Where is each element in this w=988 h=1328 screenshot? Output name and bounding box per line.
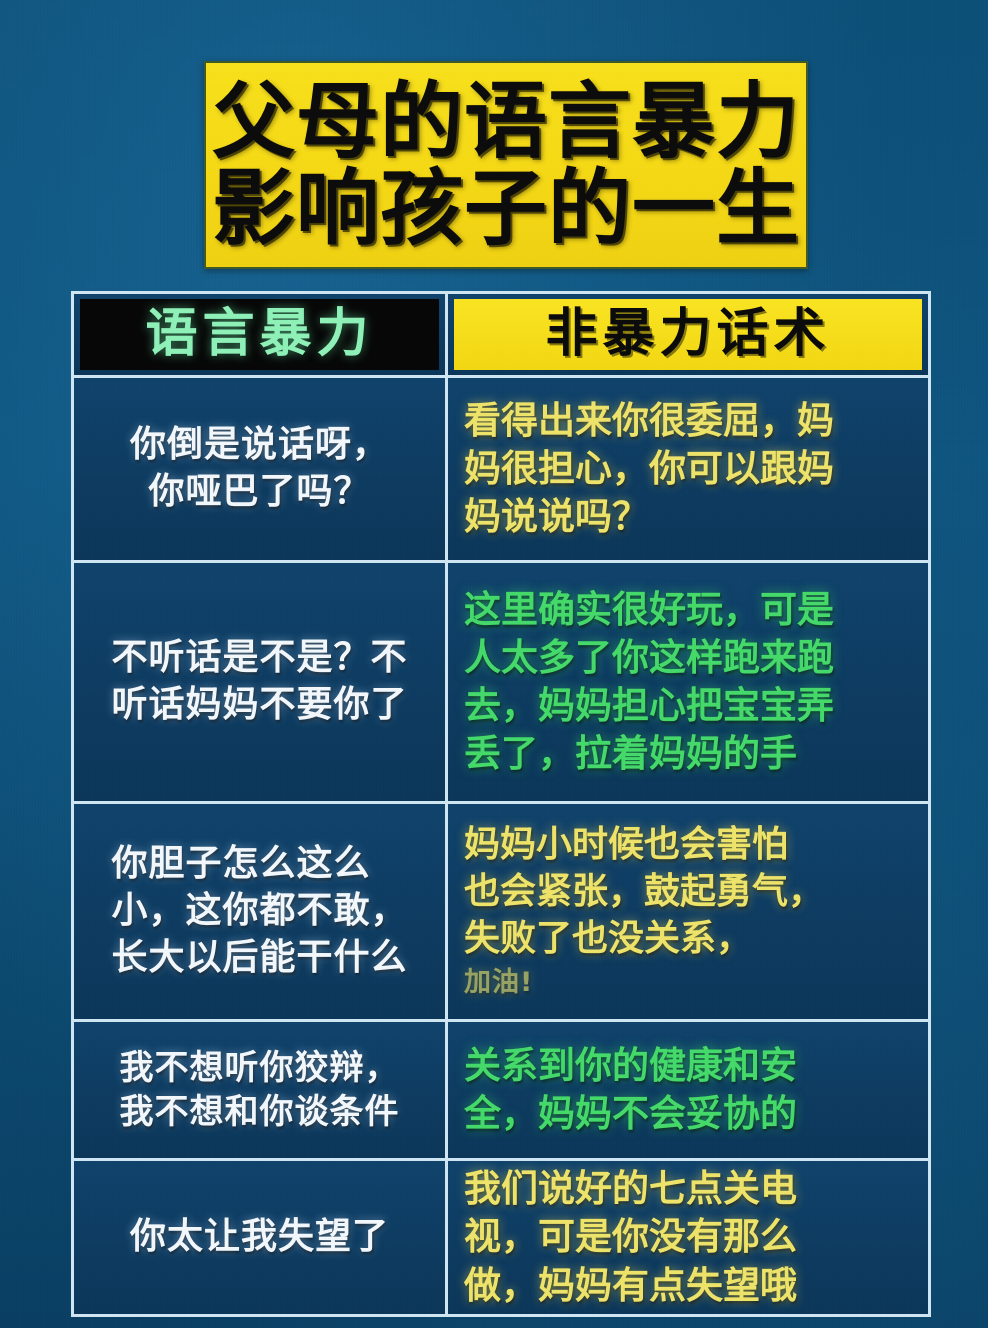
- violent-phrase-text: 你倒是说话呀， 你哑巴了吗？: [130, 422, 389, 516]
- title-line-2: 影响孩子的一生: [212, 168, 800, 249]
- violent-phrase-text: 不听话是不是？不 听话妈妈不要你了: [111, 635, 407, 729]
- table-row: 你太让我失望了 我们说好的七点关电 视，可是你没有那么 做，妈妈有点失望哦: [74, 1161, 928, 1314]
- table-header-row: 语言暴力 非暴力话术: [74, 294, 928, 378]
- comparison-table: 语言暴力 非暴力话术 你倒是说话呀， 你哑巴了吗？ 看得出来你很委屈，妈 妈很担…: [71, 291, 931, 1317]
- nonviolent-phrase-tail: 加油!: [464, 965, 824, 1000]
- title-line-1: 父母的语言暴力: [212, 81, 800, 162]
- header-label-violent: 语言暴力: [145, 308, 373, 360]
- nonviolent-phrase-cell: 妈妈小时候也会害怕 也会紧张，鼓起勇气， 失败了也没关系， 加油!: [448, 804, 928, 1019]
- header-badge-violent: 语言暴力: [80, 299, 439, 370]
- table-row: 我不想听你狡辩， 我不想和你谈条件 关系到你的健康和安 全，妈妈不会妥协的: [74, 1022, 928, 1161]
- nonviolent-phrase-cell: 关系到你的健康和安 全，妈妈不会妥协的: [448, 1022, 928, 1158]
- header-label-nonviolent: 非暴力话术: [545, 308, 830, 360]
- violent-phrase-text: 我不想听你狡辩， 我不想和你谈条件: [120, 1046, 400, 1134]
- table-row: 你倒是说话呀， 你哑巴了吗？ 看得出来你很委屈，妈 妈很担心，你可以跟妈 妈说说…: [74, 378, 928, 563]
- violent-phrase-text: 你太让我失望了: [130, 1214, 389, 1261]
- nonviolent-phrase-text: 看得出来你很委屈，妈 妈很担心，你可以跟妈 妈说说吗？: [464, 397, 834, 541]
- nonviolent-phrase-text: 关系到你的健康和安 全，妈妈不会妥协的: [464, 1042, 797, 1138]
- violent-phrase-cell: 不听话是不是？不 听话妈妈不要你了: [74, 563, 448, 801]
- nonviolent-phrase-cell: 这里确实很好玩，可是 人太多了你这样跑来跑 去，妈妈担心把宝宝弄 丢了，拉着妈妈…: [448, 563, 928, 801]
- violent-phrase-cell: 你倒是说话呀， 你哑巴了吗？: [74, 378, 448, 560]
- table-row: 不听话是不是？不 听话妈妈不要你了 这里确实很好玩，可是 人太多了你这样跑来跑 …: [74, 563, 928, 804]
- nonviolent-phrase-text: 这里确实很好玩，可是 人太多了你这样跑来跑 去，妈妈担心把宝宝弄 丢了，拉着妈妈…: [464, 586, 834, 778]
- header-cell-violent: 语言暴力: [74, 294, 448, 375]
- table-row: 你胆子怎么这么 小，这你都不敢， 长大以后能干什么 妈妈小时候也会害怕 也会紧张…: [74, 804, 928, 1022]
- violent-phrase-cell: 你胆子怎么这么 小，这你都不敢， 长大以后能干什么: [74, 804, 448, 1019]
- nonviolent-phrase-text: 我们说好的七点关电 视，可是你没有那么 做，妈妈有点失望哦: [464, 1165, 797, 1309]
- violent-phrase-text: 你胆子怎么这么 小，这你都不敢， 长大以后能干什么: [111, 841, 407, 981]
- violent-phrase-cell: 我不想听你狡辩， 我不想和你谈条件: [74, 1022, 448, 1158]
- nonviolent-phrase-text: 妈妈小时候也会害怕 也会紧张，鼓起勇气， 失败了也没关系，: [464, 824, 824, 959]
- nonviolent-phrase-cell: 看得出来你很委屈，妈 妈很担心，你可以跟妈 妈说说吗？: [448, 378, 928, 560]
- nonviolent-phrase-cell: 我们说好的七点关电 视，可是你没有那么 做，妈妈有点失望哦: [448, 1161, 928, 1314]
- poster-canvas: 父母的语言暴力 影响孩子的一生 语言暴力 非暴力话术 你倒是说话呀， 你哑巴了吗…: [0, 0, 988, 1328]
- title-banner: 父母的语言暴力 影响孩子的一生: [204, 61, 808, 269]
- nonviolent-phrase-wrapper: 妈妈小时候也会害怕 也会紧张，鼓起勇气， 失败了也没关系， 加油!: [464, 804, 824, 1019]
- header-cell-nonviolent: 非暴力话术: [448, 294, 928, 375]
- violent-phrase-cell: 你太让我失望了: [74, 1161, 448, 1314]
- header-badge-nonviolent: 非暴力话术: [454, 299, 922, 370]
